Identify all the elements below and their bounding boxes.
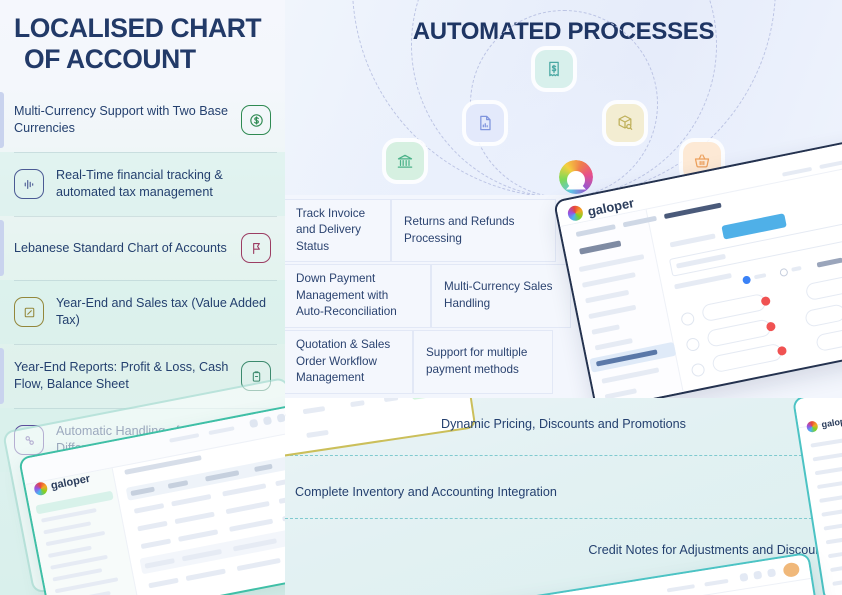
grid-cell-label: Quotation & Sales Order Workflow Managem… <box>296 337 400 387</box>
left-panel-title: LOCALISED CHART OF ACCOUNT <box>14 13 276 74</box>
galoper-logo-icon[interactable] <box>559 160 593 194</box>
dollar-circle-icon <box>241 105 271 135</box>
feature-row-real-time-tracking[interactable]: Real-Time financial tracking & automated… <box>0 152 285 216</box>
automated-processes-column: AUTOMATED PROCESSES <box>285 0 842 595</box>
report-document-icon[interactable] <box>466 104 504 142</box>
feature-label: Real-Time financial tracking & automated… <box>44 167 271 200</box>
feature-label: Year-End Reports: Profit & Loss, Cash Fl… <box>14 359 241 392</box>
feature-row-multi-currency[interactable]: Multi-Currency Support with Two Base Cur… <box>0 88 285 152</box>
grid-cell-label: Support for multiple payment methods <box>426 345 540 378</box>
package-search-icon[interactable] <box>606 104 644 142</box>
row-separator <box>14 216 277 217</box>
automated-features-grid: Track Invoice and Delivery Status Return… <box>285 195 842 398</box>
grid-cell-label: Down Payment Management with Auto-Reconc… <box>296 271 418 321</box>
left-title-line2: OF ACCOUNT <box>14 44 276 75</box>
dotted-divider-bottom <box>285 518 842 519</box>
row-separator <box>14 344 277 345</box>
row-accent-bar <box>0 348 4 404</box>
waveform-icon <box>14 169 44 199</box>
grid-cell-multi-currency-sales[interactable]: Multi-Currency Sales Handling <box>431 264 571 328</box>
feature-label: Multi-Currency Support with Two Base Cur… <box>14 103 241 136</box>
grid-cell-track-invoice[interactable]: Track Invoice and Delivery Status <box>285 199 391 262</box>
grid-cell-label: Returns and Refunds Processing <box>404 214 543 247</box>
grid-cell-quotation-sales-order[interactable]: Quotation & Sales Order Workflow Managem… <box>285 330 413 394</box>
grid-cell-label: Track Invoice and Delivery Status <box>296 206 378 256</box>
grid-cell-returns-refunds[interactable]: Returns and Refunds Processing <box>391 199 556 262</box>
bottom-band: Dynamic Pricing, Discounts and Promotion… <box>285 398 842 595</box>
feature-row-year-end-sales-tax[interactable]: Year-End and Sales tax (Value Added Tax) <box>0 280 285 344</box>
row-accent-bar <box>0 92 4 148</box>
grid-cell-down-payment[interactable]: Down Payment Management with Auto-Reconc… <box>285 264 431 328</box>
dynamic-pricing-label: Dynamic Pricing, Discounts and Promotion… <box>285 416 842 433</box>
left-title-line1: LOCALISED CHART <box>14 13 261 43</box>
inventory-integration-label: Complete Inventory and Accounting Integr… <box>295 484 557 501</box>
infographic-root: LOCALISED CHART OF ACCOUNT Multi-Currenc… <box>0 0 842 595</box>
grid-cell-label: Multi-Currency Sales Handling <box>444 279 558 312</box>
bank-icon[interactable] <box>386 142 424 180</box>
grid-cell-payment-methods[interactable]: Support for multiple payment methods <box>413 330 553 394</box>
row-separator <box>14 152 277 153</box>
dotted-divider-top <box>285 455 842 456</box>
feature-label: Lebanese Standard Chart of Accounts <box>14 240 241 257</box>
row-separator <box>14 280 277 281</box>
flag-icon <box>241 233 271 263</box>
localised-chart-of-account-panel: LOCALISED CHART OF ACCOUNT Multi-Currenc… <box>0 0 285 595</box>
feature-row-lebanese-chart[interactable]: Lebanese Standard Chart of Accounts <box>0 216 285 280</box>
tax-square-icon <box>14 297 44 327</box>
feature-label: Year-End and Sales tax (Value Added Tax) <box>44 295 271 328</box>
invoice-receipt-icon[interactable] <box>535 50 573 88</box>
row-accent-bar <box>0 220 4 276</box>
